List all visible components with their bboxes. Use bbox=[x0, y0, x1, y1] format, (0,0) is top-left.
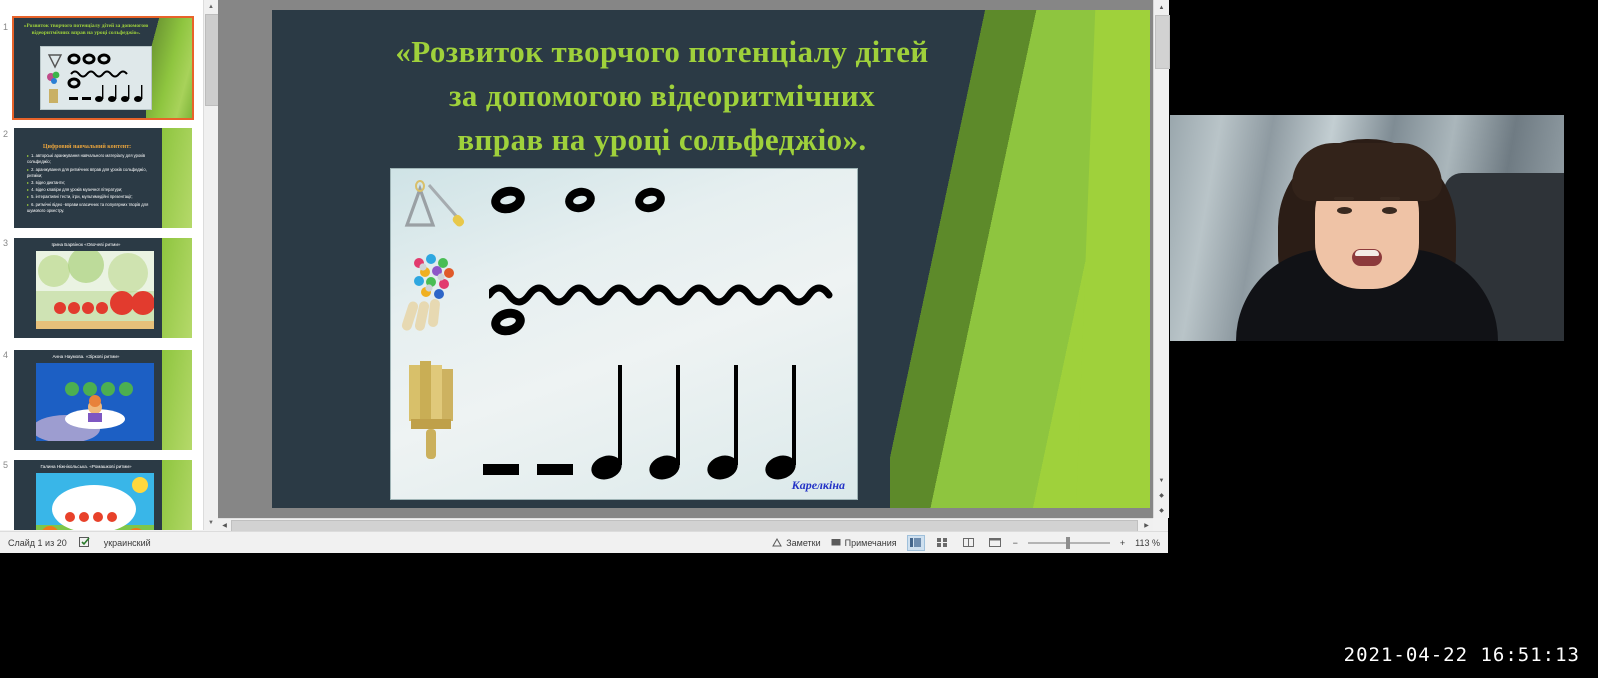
scrollbar-thumb[interactable] bbox=[1155, 15, 1170, 69]
slide-2-heading: Цифровий навчальний контент: bbox=[20, 144, 154, 150]
single-whole-note-row bbox=[491, 309, 525, 335]
eyebrow-right bbox=[1380, 197, 1400, 200]
slide-thumbnail-1[interactable]: «Розвиток творчого потенціалу дітей за д… bbox=[14, 18, 192, 118]
slide-2-content: Цифровий навчальний контент: 1. авторськ… bbox=[20, 144, 154, 215]
slide-1-picture bbox=[40, 46, 152, 110]
slide-sorter-view-button[interactable] bbox=[935, 536, 951, 550]
slide-2-bullet: 6. ритмічні відео -вправи класичних та п… bbox=[27, 202, 154, 214]
rhythm-row bbox=[483, 367, 805, 479]
slide-thumbnail-3[interactable]: Ірина Барвінок «Овочеві ритми» bbox=[14, 238, 192, 338]
slide-title: «Розвиток творчого потенціалу дітей за д… bbox=[294, 30, 1030, 162]
next-slide-icon[interactable]: ◆ bbox=[1154, 503, 1169, 518]
rhythm-chart-image[interactable]: Карелкіна bbox=[390, 168, 858, 500]
slide-number-1: 1 bbox=[3, 22, 8, 32]
screen-recording: 1 «Розвиток творчого потенціалу дітей за… bbox=[0, 0, 1598, 678]
quarter-note bbox=[765, 367, 805, 479]
comments-label: Примечания bbox=[845, 538, 897, 548]
slide-4-title: Анна Наумова. «Зіркові ритми» bbox=[14, 354, 158, 359]
normal-view-button[interactable] bbox=[907, 535, 925, 551]
slide-counter: Слайд 1 из 20 bbox=[8, 538, 67, 548]
slide-title-line-2: за допомогою відеоритмічних bbox=[294, 74, 1030, 118]
slide-5-photo bbox=[36, 473, 154, 530]
slide-vertical-scrollbar[interactable]: ▲ ▼ ◆ ◆ bbox=[1153, 0, 1169, 518]
slide-title-line-3: вправ на уроці сольфеджіо». bbox=[294, 118, 1030, 162]
whole-note bbox=[488, 305, 527, 338]
quarter-note bbox=[649, 367, 689, 479]
current-slide[interactable]: «Розвиток творчого потенціалу дітей за д… bbox=[272, 10, 1150, 508]
slide-1-title: «Розвиток творчого потенціалу дітей за д… bbox=[20, 23, 152, 37]
recording-timestamp: 2021-04-22 16:51:13 bbox=[1344, 644, 1580, 666]
scroll-down-icon[interactable]: ▼ bbox=[204, 516, 218, 530]
notes-label: Заметки bbox=[786, 538, 820, 548]
status-bar: Слайд 1 из 20 украинский Заметки Примеча… bbox=[0, 531, 1168, 553]
zoom-level-label[interactable]: 113 % bbox=[1135, 538, 1160, 548]
language-label[interactable]: украинский bbox=[104, 538, 151, 548]
wavy-line-row bbox=[489, 277, 839, 307]
slide-4-photo bbox=[36, 363, 154, 441]
slide-thumbnail-4[interactable]: Анна Наумова. «Зіркові ритми» bbox=[14, 350, 192, 450]
bangs bbox=[1292, 143, 1442, 201]
slide-2-bullet: 2. аранжування для ритмічних вправ для у… bbox=[27, 167, 154, 179]
previous-slide-icon[interactable]: ◆ bbox=[1154, 488, 1169, 503]
rest-symbol bbox=[537, 464, 573, 475]
eye-left bbox=[1337, 207, 1352, 214]
scroll-up-icon[interactable]: ▲ bbox=[204, 0, 218, 14]
whole-note bbox=[563, 185, 598, 216]
quarter-note bbox=[707, 367, 747, 479]
slide-horizontal-scrollbar[interactable]: ◀ ▶ bbox=[218, 518, 1153, 532]
zoom-slider[interactable] bbox=[1028, 537, 1110, 549]
whole-note bbox=[633, 185, 668, 216]
slide-number-4: 4 bbox=[3, 350, 8, 360]
scroll-up-icon[interactable]: ▲ bbox=[1154, 0, 1169, 15]
zoom-in-button[interactable]: + bbox=[1120, 538, 1125, 548]
slide-number-3: 3 bbox=[3, 238, 8, 248]
rest-symbol bbox=[483, 464, 519, 475]
spellcheck-icon[interactable] bbox=[79, 537, 92, 548]
slide-thumbnail-2[interactable]: Цифровий навчальний контент: 1. авторськ… bbox=[14, 128, 192, 228]
eye-right bbox=[1382, 207, 1397, 214]
teeth bbox=[1355, 250, 1379, 256]
slide-editing-area[interactable]: «Розвиток творчого потенціалу дітей за д… bbox=[218, 0, 1153, 518]
slide-2-bullet: 5. інтерактивні тести, ігри, мультимедій… bbox=[27, 194, 154, 200]
quarter-note bbox=[591, 367, 631, 479]
slide-2-bullet: 4. відео клавіри для уроків музичної літ… bbox=[27, 187, 154, 193]
slide-number-2: 2 bbox=[3, 129, 8, 139]
triangle-icon bbox=[399, 177, 473, 240]
reading-view-button[interactable] bbox=[961, 536, 977, 550]
zoom-slider-handle[interactable] bbox=[1066, 537, 1070, 549]
slide-2-bullet: 3. відео диктанти; bbox=[27, 180, 154, 186]
thumbnail-pane-scrollbar[interactable]: ▲ ▼ bbox=[203, 0, 218, 530]
presenter-webcam bbox=[1170, 115, 1564, 341]
whole-note bbox=[488, 183, 527, 216]
slide-5-title: Галина Ніжнікольська. «Ромашкові ритми» bbox=[14, 464, 158, 469]
artist-signature: Карелкіна bbox=[792, 478, 845, 493]
slide-3-photo bbox=[36, 251, 154, 329]
notes-button[interactable]: Заметки bbox=[772, 538, 820, 548]
slide-title-line-1: «Розвиток творчого потенціалу дітей bbox=[294, 30, 1030, 74]
whole-notes-row bbox=[491, 187, 665, 213]
bell-shaker-icon bbox=[399, 247, 473, 344]
slide-thumbnail-pane[interactable]: 1 «Розвиток творчого потенціалу дітей за… bbox=[0, 0, 203, 530]
slide-2-bullet: 1. авторські аранжування навчального мат… bbox=[27, 153, 154, 165]
slideshow-view-button[interactable] bbox=[987, 536, 1003, 550]
slide-3-title: Ірина Барвінок «Овочеві ритми» bbox=[14, 242, 158, 247]
slide-thumbnail-5[interactable]: Галина Ніжнікольська. «Ромашкові ритми» bbox=[14, 460, 192, 530]
scrollbar-thumb[interactable] bbox=[205, 14, 219, 106]
zoom-out-button[interactable]: − bbox=[1013, 538, 1018, 548]
scroll-down-icon[interactable]: ▼ bbox=[1154, 473, 1169, 488]
eyebrow-left bbox=[1334, 197, 1354, 200]
slide-number-5: 5 bbox=[3, 460, 8, 470]
powerpoint-window: 1 «Розвиток творчого потенціалу дітей за… bbox=[0, 0, 1168, 552]
rhythm-notation-mini bbox=[41, 47, 151, 109]
comments-button[interactable]: Примечания bbox=[831, 538, 897, 548]
wooden-rattle-icon bbox=[399, 357, 473, 472]
